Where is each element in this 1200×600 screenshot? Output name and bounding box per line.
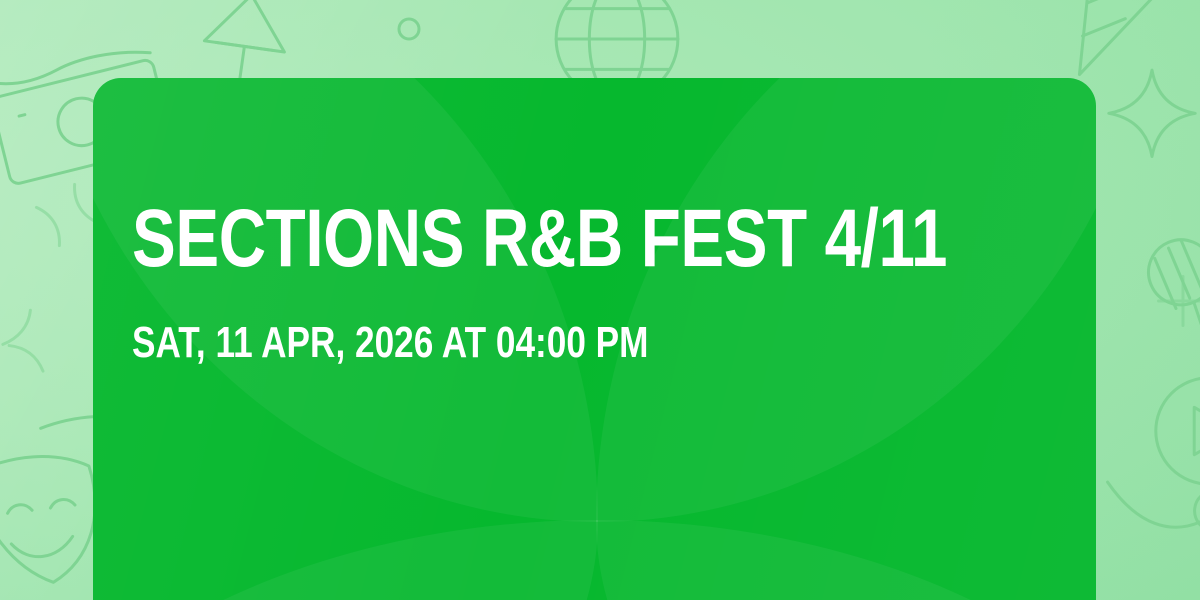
event-card[interactable]: SECTIONS R&B FEST 4/11 SAT, 11 APR, 2026… bbox=[93, 78, 1096, 600]
event-title: SECTIONS R&B FEST 4/11 bbox=[132, 204, 852, 275]
event-datetime: SAT, 11 APR, 2026 AT 04:00 PM bbox=[132, 321, 852, 365]
balloon-icon bbox=[1089, 459, 1200, 600]
petal-bottom-left bbox=[93, 520, 598, 600]
sparkle-icon bbox=[1148, 266, 1200, 336]
petal-bottom-right bbox=[596, 520, 1096, 600]
event-banner: SECTIONS R&B FEST 4/11 SAT, 11 APR, 2026… bbox=[0, 0, 1200, 600]
sparkle-icon bbox=[0, 291, 79, 381]
circle-icon bbox=[396, 16, 422, 42]
event-card-copy: SECTIONS R&B FEST 4/11 SAT, 11 APR, 2026… bbox=[132, 204, 1032, 365]
sparkle-icon bbox=[1098, 62, 1200, 170]
